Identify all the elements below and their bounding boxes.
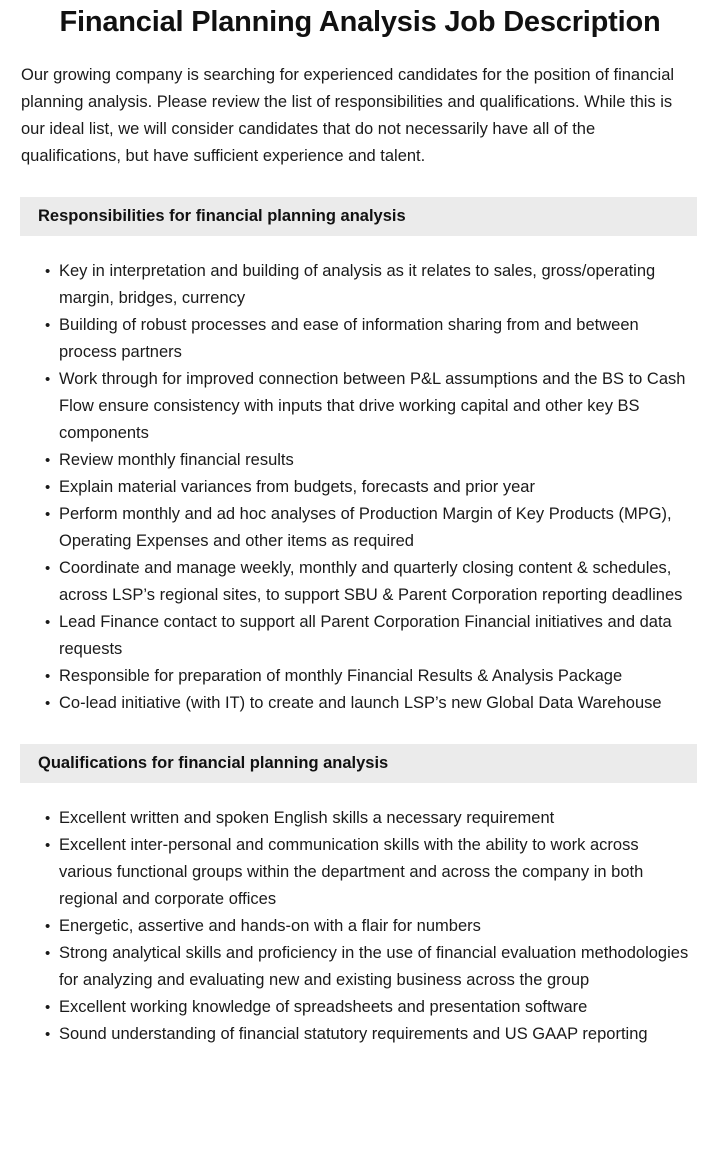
list-item: Excellent written and spoken English ski… [45,805,696,832]
page-title: Financial Planning Analysis Job Descript… [0,4,720,40]
list-item: Coordinate and manage weekly, monthly an… [45,555,696,609]
list-item: Strong analytical skills and proficiency… [45,940,696,994]
list-item: Lead Finance contact to support all Pare… [45,609,696,663]
list-item: Building of robust processes and ease of… [45,312,696,366]
responsibilities-list: Key in interpretation and building of an… [0,258,720,717]
list-item: Key in interpretation and building of an… [45,258,696,312]
list-item: Review monthly financial results [45,447,696,474]
intro-paragraph: Our growing company is searching for exp… [0,62,720,170]
page-bottom-spacer [0,1048,720,1074]
list-item: Excellent inter-personal and communicati… [45,832,696,913]
list-item: Energetic, assertive and hands-on with a… [45,913,696,940]
list-item: Work through for improved connection bet… [45,366,696,447]
list-item: Responsible for preparation of monthly F… [45,663,696,690]
section-header-responsibilities: Responsibilities for financial planning … [20,197,697,236]
qualifications-list: Excellent written and spoken English ski… [0,805,720,1048]
list-item: Sound understanding of financial statuto… [45,1021,696,1048]
section-header-qualifications: Qualifications for financial planning an… [20,744,697,783]
list-item: Co-lead initiative (with IT) to create a… [45,690,696,717]
list-item: Excellent working knowledge of spreadshe… [45,994,696,1021]
list-item: Explain material variances from budgets,… [45,474,696,501]
job-description-page: Financial Planning Analysis Job Descript… [0,4,720,1074]
list-item: Perform monthly and ad hoc analyses of P… [45,501,696,555]
